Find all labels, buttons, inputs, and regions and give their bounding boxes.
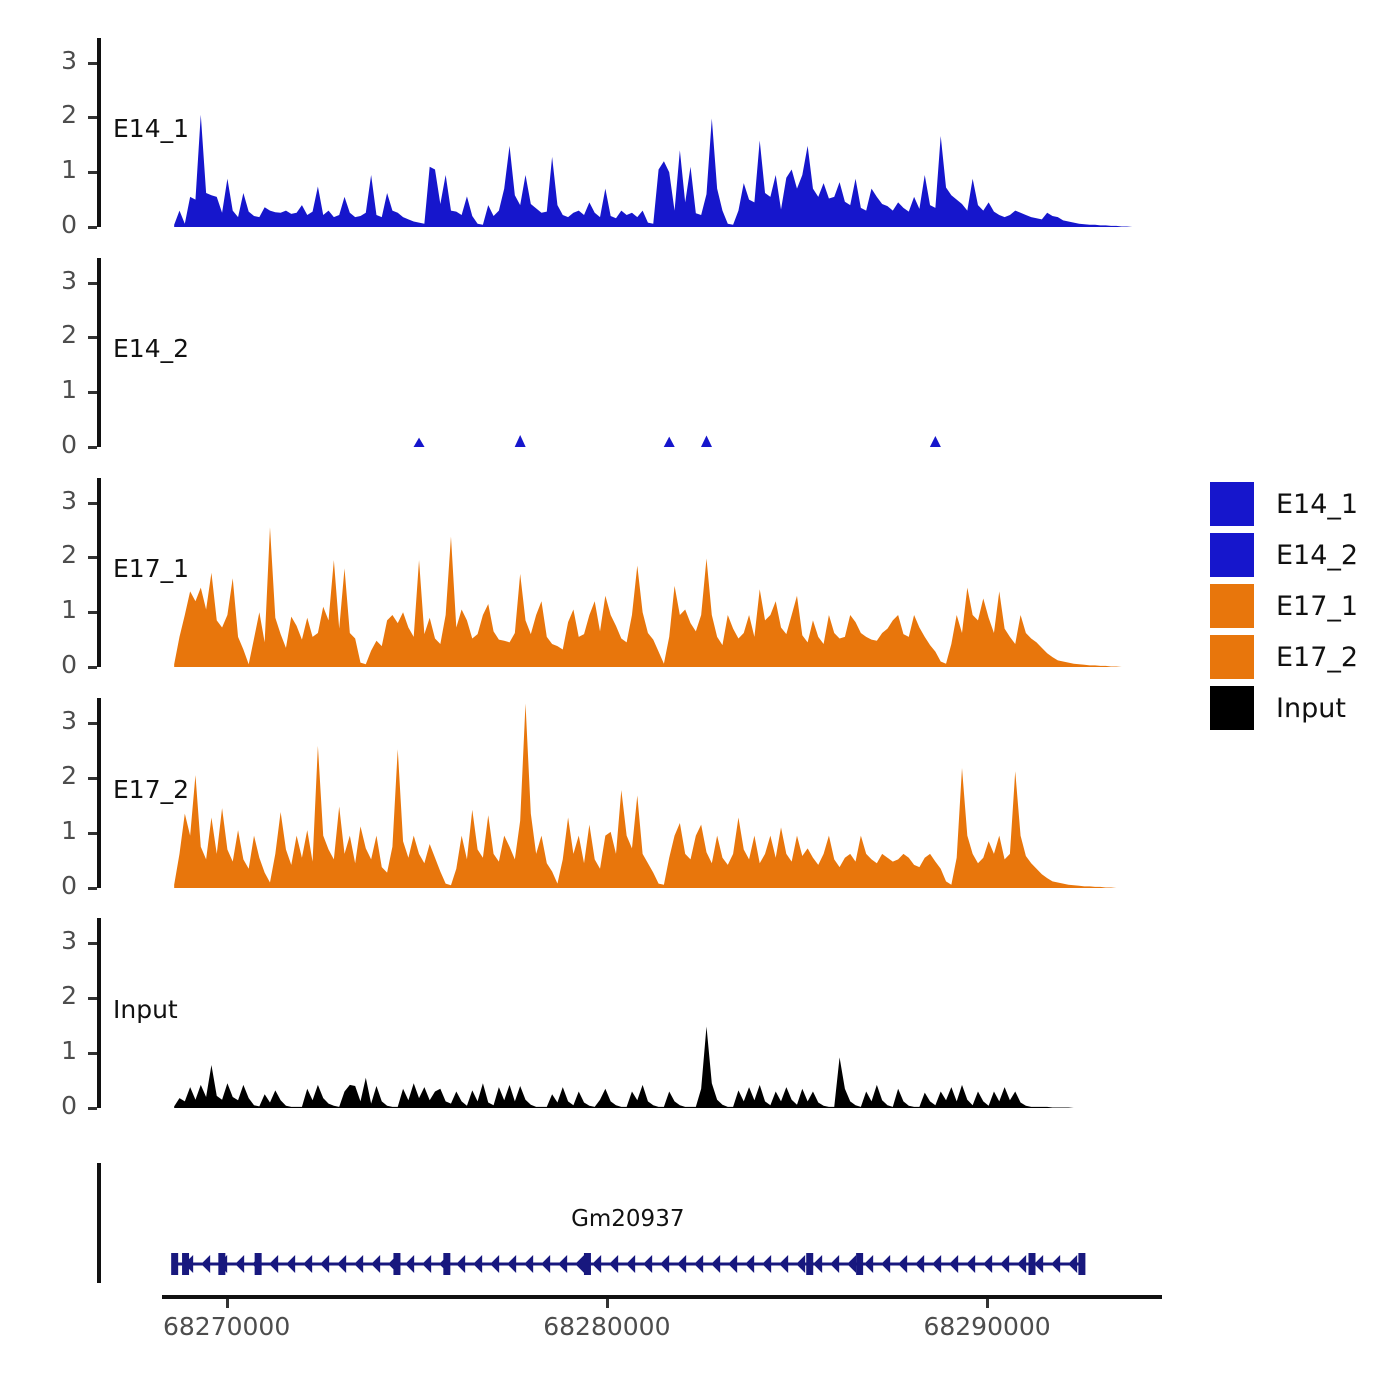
track-panel-e17_1 (162, 478, 1162, 667)
gene-strand-arrow-icon (575, 1255, 584, 1273)
y-tick-label: 2 (25, 540, 77, 569)
legend-item-label: E17_1 (1276, 591, 1358, 622)
legend-item-label: E17_2 (1276, 642, 1358, 673)
gene-strand-arrow-icon (541, 1255, 550, 1273)
gene-strand-arrow-icon (388, 1255, 397, 1273)
peak-spike (414, 438, 425, 447)
legend-color-swatch (1210, 584, 1254, 628)
gene-exon-block (806, 1253, 813, 1275)
gene-strand-arrow-icon (269, 1255, 278, 1273)
gene-strand-arrow-icon (932, 1255, 941, 1273)
gene-strand-arrow-icon (1051, 1255, 1060, 1273)
gene-strand-arrow-icon (1068, 1255, 1077, 1273)
peak-spike (515, 435, 526, 447)
y-tick-mark (88, 391, 97, 394)
legend-item-e14_2[interactable]: E14_2 (1210, 533, 1358, 577)
gene-strand-arrow-icon (745, 1255, 754, 1273)
gene-strand-arrow-icon (898, 1255, 907, 1273)
legend-item-label: E14_1 (1276, 489, 1358, 520)
gene-strand-arrow-icon (422, 1255, 431, 1273)
y-tick-mark (88, 282, 97, 285)
gene-strand-arrow-icon (694, 1255, 703, 1273)
y-tick-label: 1 (25, 155, 77, 184)
x-tick-mark (986, 1299, 989, 1308)
y-tick-mark (88, 446, 97, 449)
gene-strand-arrow-icon (303, 1255, 312, 1273)
peak-spike (930, 436, 941, 447)
legend-item-label: Input (1276, 693, 1346, 724)
gene-strand-arrow-icon (558, 1255, 567, 1273)
y-tick-label: 1 (25, 816, 77, 845)
legend-item-input[interactable]: Input (1210, 686, 1346, 730)
legend-item-e14_1[interactable]: E14_1 (1210, 482, 1358, 526)
gene-strand-arrow-icon (881, 1255, 890, 1273)
y-tick-label: 2 (25, 320, 77, 349)
y-tick-label: 3 (25, 46, 77, 75)
x-tick-mark (606, 1299, 609, 1308)
y-tick-mark (88, 171, 97, 174)
y-tick-label: 1 (25, 1036, 77, 1065)
gene-exon-block (856, 1253, 863, 1275)
y-tick-mark (88, 942, 97, 945)
track-panel-e14_2 (162, 258, 1162, 447)
coverage-area (174, 527, 1132, 667)
gene-strand-arrow-icon (983, 1255, 992, 1273)
coverage-area (174, 704, 1127, 888)
y-tick-label: 2 (25, 100, 77, 129)
y-tick-mark (88, 226, 97, 229)
gene-model-track[interactable] (0, 1244, 1400, 1284)
y-tick-label: 3 (25, 266, 77, 295)
coverage-area (174, 1026, 1122, 1108)
x-tick-mark (226, 1299, 229, 1308)
gene-strand-arrow-icon (949, 1255, 958, 1273)
legend-color-swatch (1210, 482, 1254, 526)
gene-strand-arrow-icon (235, 1255, 244, 1273)
y-tick-mark (88, 556, 97, 559)
y-axis-line-e14_2 (97, 258, 101, 447)
y-tick-label: 3 (25, 706, 77, 735)
legend-item-label: E14_2 (1276, 540, 1358, 571)
y-tick-mark (88, 62, 97, 65)
gene-strand-arrow-icon (337, 1255, 346, 1273)
track-panel-e17_2 (162, 698, 1162, 888)
gene-strand-arrow-icon (1034, 1255, 1043, 1273)
y-tick-label: 0 (25, 871, 77, 900)
y-tick-mark (88, 1052, 97, 1055)
y-tick-label: 0 (25, 430, 77, 459)
gene-strand-arrow-icon (813, 1255, 822, 1273)
legend-item-e17_1[interactable]: E17_1 (1210, 584, 1358, 628)
gene-strand-arrow-icon (354, 1255, 363, 1273)
x-axis-line (162, 1295, 1162, 1299)
y-tick-mark (88, 1107, 97, 1110)
y-tick-mark (88, 502, 97, 505)
x-tick-label: 68290000 (923, 1312, 1050, 1341)
y-tick-mark (88, 336, 97, 339)
gene-strand-arrow-icon (660, 1255, 669, 1273)
y-tick-label: 1 (25, 595, 77, 624)
gene-strand-arrow-icon (524, 1255, 533, 1273)
gene-strand-arrow-icon (762, 1255, 771, 1273)
gene-strand-arrow-icon (643, 1255, 652, 1273)
y-axis-line-e17_1 (97, 478, 101, 667)
gene-strand-arrow-icon (626, 1255, 635, 1273)
coverage-area (174, 115, 1143, 227)
y-tick-mark (88, 611, 97, 614)
gene-strand-arrow-icon (507, 1255, 516, 1273)
gene-strand-arrow-icon (320, 1255, 329, 1273)
y-tick-label: 0 (25, 1091, 77, 1120)
gene-strand-arrow-icon (830, 1255, 839, 1273)
y-tick-mark (88, 887, 97, 890)
gene-exon-block (584, 1253, 591, 1275)
gene-strand-arrow-icon (286, 1255, 295, 1273)
y-tick-label: 3 (25, 486, 77, 515)
y-tick-label: 0 (25, 650, 77, 679)
gene-strand-arrow-icon (847, 1255, 856, 1273)
y-axis-line-e17_2 (97, 698, 101, 888)
gene-strand-arrow-icon (1000, 1255, 1009, 1273)
y-tick-label: 0 (25, 210, 77, 239)
gene-strand-arrow-icon (490, 1255, 499, 1273)
legend-color-swatch (1210, 533, 1254, 577)
genome-browser-figure: 0123E14_10123E14_20123E17_10123E17_20123… (0, 0, 1400, 1400)
gene-strand-arrow-icon (779, 1255, 788, 1273)
track-panel-e14_1 (162, 38, 1162, 227)
y-axis-line-e14_1 (97, 38, 101, 227)
legend-item-e17_2[interactable]: E17_2 (1210, 635, 1358, 679)
y-tick-mark (88, 832, 97, 835)
y-tick-mark (88, 666, 97, 669)
gene-strand-arrow-icon (456, 1255, 465, 1273)
gene-strand-arrow-icon (592, 1255, 601, 1273)
gene-strand-arrow-icon (915, 1255, 924, 1273)
y-tick-mark (88, 777, 97, 780)
gene-strand-arrow-icon (728, 1255, 737, 1273)
gene-strand-arrow-icon (796, 1255, 805, 1273)
gene-strand-arrow-icon (966, 1255, 975, 1273)
x-tick-label: 68270000 (163, 1312, 290, 1341)
gene-strand-arrow-icon (473, 1255, 482, 1273)
gene-strand-arrow-icon (711, 1255, 720, 1273)
peak-spike (664, 437, 675, 447)
y-tick-label: 2 (25, 761, 77, 790)
track-panel-input (162, 918, 1162, 1108)
gene-strand-arrow-icon (677, 1255, 686, 1273)
y-axis-line-input (97, 918, 101, 1108)
legend-color-swatch (1210, 686, 1254, 730)
y-tick-mark (88, 722, 97, 725)
peak-spike (701, 435, 712, 447)
y-tick-mark (88, 116, 97, 119)
gene-name-label: Gm20937 (571, 1206, 684, 1232)
gene-exon-block (171, 1253, 178, 1275)
gene-strand-arrow-icon (1017, 1255, 1026, 1273)
gene-strand-arrow-icon (864, 1255, 873, 1273)
x-tick-label: 68280000 (543, 1312, 670, 1341)
y-tick-label: 2 (25, 981, 77, 1010)
legend-color-swatch (1210, 635, 1254, 679)
gene-exon-block (1078, 1253, 1085, 1275)
legend: E14_1E14_2E17_1E17_2Input (1210, 430, 1400, 700)
gene-strand-arrow-icon (405, 1255, 414, 1273)
y-tick-label: 3 (25, 926, 77, 955)
y-tick-label: 1 (25, 375, 77, 404)
gene-strand-arrow-icon (609, 1255, 618, 1273)
y-tick-mark (88, 997, 97, 1000)
gene-strand-arrow-icon (201, 1255, 210, 1273)
gene-strand-arrow-icon (371, 1255, 380, 1273)
